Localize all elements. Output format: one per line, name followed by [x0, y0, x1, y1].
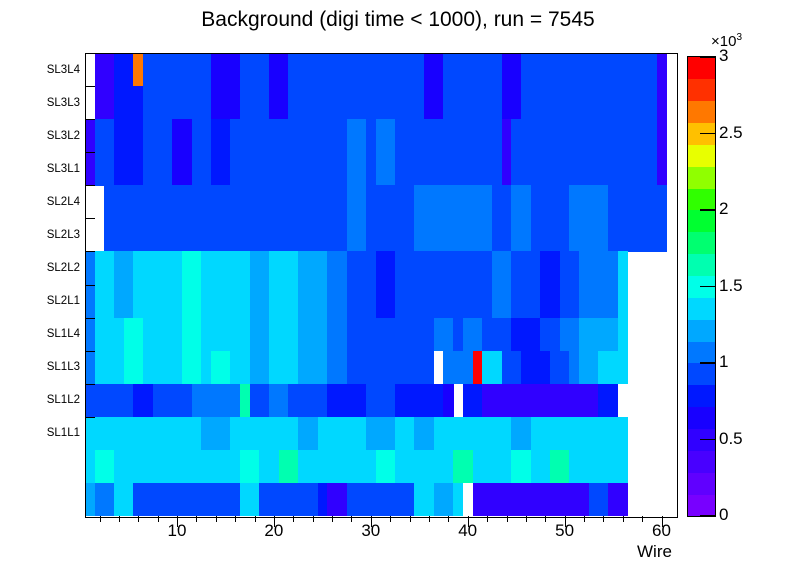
- heatmap-cell: [502, 351, 512, 385]
- heatmap-cell: [511, 285, 521, 319]
- heatmap-cell: [308, 251, 318, 285]
- heatmap-cell: [608, 86, 618, 120]
- heatmap-cell: [327, 318, 337, 352]
- heatmap-cell: [463, 318, 473, 352]
- heatmap-cell: [308, 119, 318, 153]
- heatmap-cell: [376, 86, 386, 120]
- heatmap-cell: [608, 251, 618, 285]
- colorbar-tick-label: 1: [719, 352, 728, 372]
- heatmap-cell: [511, 185, 521, 219]
- heatmap-cell: [318, 53, 328, 87]
- heatmap-cell: [463, 251, 473, 285]
- heatmap-cell: [347, 53, 357, 87]
- heatmap-cell: [618, 185, 628, 219]
- heatmap-cell: [201, 152, 211, 186]
- heatmap-cell: [531, 318, 541, 352]
- heatmap-cell: [560, 351, 570, 385]
- heatmap-cell: [657, 86, 667, 120]
- heatmap-cell: [550, 351, 560, 385]
- heatmap-cell: [618, 483, 628, 516]
- heatmap-cell: [337, 351, 347, 385]
- y-axis-label: SL2L3: [18, 229, 80, 241]
- heatmap-cell: [482, 318, 492, 352]
- heatmap-cell: [424, 351, 434, 385]
- heatmap-cell: [172, 417, 182, 451]
- heatmap-cell: [579, 351, 589, 385]
- heatmap-cell: [628, 152, 638, 186]
- heatmap-cell: [376, 185, 386, 219]
- heatmap-cell: [318, 185, 328, 219]
- heatmap-cell: [492, 384, 502, 418]
- heatmap-cell: [298, 417, 308, 451]
- heatmap-cell: [473, 417, 483, 451]
- heatmap-cell: [221, 251, 231, 285]
- heatmap-cell: [443, 450, 453, 484]
- y-axis-tick: [85, 285, 95, 286]
- heatmap-cell: [143, 218, 153, 252]
- x-axis-tick: [100, 516, 101, 522]
- heatmap-cell: [492, 285, 502, 319]
- heatmap-cell: [240, 251, 250, 285]
- heatmap-cell: [482, 251, 492, 285]
- heatmap-cell: [279, 86, 289, 120]
- heatmap-cell: [463, 53, 473, 87]
- heatmap-cell: [414, 351, 424, 385]
- heatmap-cell: [250, 119, 260, 153]
- heatmap-cell: [482, 152, 492, 186]
- colorbar-tick: [700, 286, 715, 288]
- x-axis-tick: [138, 516, 139, 522]
- heatmap-cell: [133, 318, 143, 352]
- heatmap-cell: [356, 483, 366, 516]
- heatmap-cell: [608, 53, 618, 87]
- x-axis-tick: [429, 516, 430, 522]
- heatmap-cell: [657, 53, 667, 87]
- heatmap-cell: [598, 351, 608, 385]
- heatmap-cell: [502, 285, 512, 319]
- heatmap-cell: [230, 285, 240, 319]
- heatmap-cell: [337, 384, 347, 418]
- heatmap-cell: [521, 285, 531, 319]
- heatmap-cell: [230, 483, 240, 516]
- heatmap-cell: [560, 152, 570, 186]
- heatmap-cell: [366, 251, 376, 285]
- heatmap-cell: [221, 285, 231, 319]
- heatmap-cell: [366, 119, 376, 153]
- heatmap-cell: [114, 53, 124, 87]
- heatmap-cell: [153, 185, 163, 219]
- heatmap-cell: [211, 86, 221, 120]
- heatmap-cell: [560, 218, 570, 252]
- heatmap-cell: [308, 351, 318, 385]
- x-axis-tick: [410, 516, 411, 522]
- heatmap-cell: [95, 450, 105, 484]
- heatmap-cell: [569, 417, 579, 451]
- heatmap-cell: [414, 185, 424, 219]
- heatmap-cells: [85, 53, 676, 516]
- heatmap-cell: [163, 483, 173, 516]
- heatmap-cell: [259, 384, 269, 418]
- colorbar-band: [688, 188, 715, 210]
- heatmap-cell: [376, 53, 386, 87]
- heatmap-cell: [540, 185, 550, 219]
- heatmap-cell: [502, 218, 512, 252]
- x-axis-tick: [603, 516, 604, 522]
- heatmap-cell: [318, 417, 328, 451]
- heatmap-cell: [453, 218, 463, 252]
- heatmap-cell: [376, 483, 386, 516]
- heatmap-cell: [540, 251, 550, 285]
- heatmap-cell: [511, 450, 521, 484]
- heatmap-cell: [569, 86, 579, 120]
- heatmap-cell: [288, 384, 298, 418]
- heatmap-cell: [618, 251, 628, 285]
- heatmap-cell: [182, 318, 192, 352]
- heatmap-cell: [598, 251, 608, 285]
- y-axis-labels: SL3L4SL3L3SL3L2SL3L1SL2L4SL2L3SL2L2SL2L1…: [12, 53, 80, 516]
- heatmap-cell: [647, 53, 657, 87]
- heatmap-cell: [85, 483, 95, 516]
- heatmap-cell: [376, 119, 386, 153]
- heatmap-cell: [628, 119, 638, 153]
- heatmap-cell: [443, 285, 453, 319]
- heatmap-cell: [95, 351, 105, 385]
- heatmap-cell: [104, 351, 114, 385]
- heatmap-cell: [221, 318, 231, 352]
- heatmap-cell: [259, 285, 269, 319]
- heatmap-cell: [153, 417, 163, 451]
- heatmap-cell: [153, 483, 163, 516]
- heatmap-cell: [114, 285, 124, 319]
- heatmap-cell: [560, 318, 570, 352]
- heatmap-cell: [531, 483, 541, 516]
- heatmap-cell: [531, 185, 541, 219]
- heatmap-cell: [618, 86, 628, 120]
- heatmap-cell: [104, 483, 114, 516]
- heatmap-cell: [434, 285, 444, 319]
- heatmap-cell: [405, 251, 415, 285]
- heatmap-cell: [153, 384, 163, 418]
- heatmap-cell: [376, 251, 386, 285]
- heatmap-cell: [356, 86, 366, 120]
- y-axis-tick: [85, 417, 95, 418]
- heatmap-cell: [337, 119, 347, 153]
- heatmap-cell: [560, 417, 570, 451]
- heatmap-cell: [318, 119, 328, 153]
- heatmap-cell: [473, 152, 483, 186]
- heatmap-cell: [288, 483, 298, 516]
- heatmap-cell: [473, 185, 483, 219]
- heatmap-cell: [201, 218, 211, 252]
- heatmap-cell: [114, 86, 124, 120]
- heatmap-cell: [259, 119, 269, 153]
- heatmap-cell: [221, 53, 231, 87]
- heatmap-cell: [589, 450, 599, 484]
- heatmap-cell: [143, 417, 153, 451]
- heatmap-cell: [327, 251, 337, 285]
- heatmap-cell: [414, 218, 424, 252]
- heatmap-cell: [414, 450, 424, 484]
- heatmap-cell: [279, 318, 289, 352]
- heatmap-cell: [482, 483, 492, 516]
- heatmap-cell: [502, 483, 512, 516]
- y-axis-label: SL2L2: [18, 262, 80, 274]
- heatmap-cell: [492, 483, 502, 516]
- heatmap-cell: [453, 285, 463, 319]
- heatmap-cell: [347, 218, 357, 252]
- heatmap-cell: [473, 53, 483, 87]
- y-axis-tick: [85, 119, 95, 120]
- heatmap-cell: [230, 185, 240, 219]
- heatmap-cell: [453, 251, 463, 285]
- x-axis-tick: [545, 516, 546, 522]
- colorbar-tick: [700, 362, 715, 364]
- heatmap-cell: [443, 251, 453, 285]
- heatmap-cell: [550, 218, 560, 252]
- heatmap-cell: [192, 86, 202, 120]
- heatmap-cell: [395, 218, 405, 252]
- heatmap-cell: [492, 318, 502, 352]
- heatmap-cell: [618, 152, 628, 186]
- heatmap-cell: [240, 218, 250, 252]
- y-axis-tick: [85, 318, 95, 319]
- heatmap-cell: [269, 450, 279, 484]
- heatmap-cell: [221, 86, 231, 120]
- heatmap-cell: [502, 152, 512, 186]
- heatmap-cell: [288, 218, 298, 252]
- heatmap-cell: [531, 351, 541, 385]
- heatmap-cell: [443, 384, 453, 418]
- heatmap-cell: [298, 351, 308, 385]
- heatmap-cell: [385, 251, 395, 285]
- heatmap-cell: [473, 285, 483, 319]
- heatmap-cell: [443, 417, 453, 451]
- heatmap-cell: [201, 53, 211, 87]
- colorbar-tick: [700, 439, 715, 441]
- heatmap-cell: [608, 119, 618, 153]
- heatmap-cell: [318, 351, 328, 385]
- heatmap-cell: [531, 53, 541, 87]
- y-axis-label: SL1L3: [18, 361, 80, 373]
- heatmap-cell: [337, 185, 347, 219]
- heatmap-cell: [598, 450, 608, 484]
- heatmap-cell: [385, 119, 395, 153]
- heatmap-cell: [405, 152, 415, 186]
- heatmap-cell: [211, 318, 221, 352]
- heatmap-cell: [356, 285, 366, 319]
- heatmap-cell: [560, 384, 570, 418]
- heatmap-cell: [240, 351, 250, 385]
- heatmap-cell: [124, 119, 134, 153]
- heatmap-cell: [482, 417, 492, 451]
- heatmap-cell: [492, 185, 502, 219]
- heatmap-cell: [579, 285, 589, 319]
- heatmap-cell: [308, 483, 318, 516]
- heatmap-cell: [133, 53, 143, 87]
- heatmap-cell: [579, 318, 589, 352]
- heatmap-cell: [163, 185, 173, 219]
- heatmap-cell: [453, 119, 463, 153]
- heatmap-cell: [608, 483, 618, 516]
- heatmap-cell: [492, 251, 502, 285]
- heatmap-cell: [618, 285, 628, 319]
- heatmap-cell: [502, 318, 512, 352]
- heatmap-cell: [356, 384, 366, 418]
- heatmap-cell: [347, 450, 357, 484]
- heatmap-cell: [647, 119, 657, 153]
- heatmap-cell: [482, 384, 492, 418]
- heatmap-cell: [172, 218, 182, 252]
- heatmap-cell: [327, 86, 337, 120]
- heatmap-cell: [443, 185, 453, 219]
- colorbar-band: [688, 407, 715, 429]
- heatmap-cell: [424, 285, 434, 319]
- heatmap-cell: [298, 86, 308, 120]
- heatmap-cell: [618, 53, 628, 87]
- heatmap-cell: [424, 53, 434, 87]
- heatmap-cell: [85, 119, 95, 153]
- heatmap-cell: [211, 351, 221, 385]
- heatmap-cell: [424, 86, 434, 120]
- colorbar-band: [688, 297, 715, 319]
- heatmap-cell: [569, 185, 579, 219]
- heatmap-cell: [405, 53, 415, 87]
- heatmap-cell: [453, 152, 463, 186]
- heatmap-cell: [376, 218, 386, 252]
- heatmap-cell: [540, 450, 550, 484]
- heatmap-cell: [385, 86, 395, 120]
- y-axis-label: SL3L1: [18, 163, 80, 175]
- heatmap-cell: [250, 384, 260, 418]
- heatmap-cell: [230, 152, 240, 186]
- y-axis-label: SL2L4: [18, 196, 80, 208]
- heatmap-cell: [221, 218, 231, 252]
- heatmap-cell: [163, 318, 173, 352]
- heatmap-cell: [230, 119, 240, 153]
- heatmap-cell: [211, 285, 221, 319]
- heatmap-cell: [192, 318, 202, 352]
- heatmap-cell: [366, 285, 376, 319]
- heatmap-cell: [385, 450, 395, 484]
- x-axis-tick: [584, 516, 585, 522]
- x-axis-tick: [642, 516, 643, 522]
- heatmap-cell: [618, 417, 628, 451]
- heatmap-cell: [598, 53, 608, 87]
- heatmap-cell: [569, 351, 579, 385]
- heatmap-cell: [347, 251, 357, 285]
- heatmap-cell: [608, 318, 618, 352]
- heatmap-cell: [453, 483, 463, 516]
- heatmap-cell: [482, 86, 492, 120]
- x-axis-tick-label: 30: [361, 521, 380, 541]
- colorbar-tick-label: 0: [719, 505, 728, 525]
- heatmap-cell: [259, 351, 269, 385]
- heatmap-cell: [434, 318, 444, 352]
- y-axis-tick: [85, 152, 95, 153]
- heatmap-cell: [463, 218, 473, 252]
- heatmap-cell: [192, 351, 202, 385]
- heatmap-cell: [356, 218, 366, 252]
- heatmap-cell: [337, 152, 347, 186]
- heatmap-cell: [550, 318, 560, 352]
- heatmap-cell: [424, 251, 434, 285]
- x-axis-tick: [332, 516, 333, 522]
- heatmap-cell: [569, 152, 579, 186]
- heatmap-plot-area[interactable]: [85, 53, 676, 516]
- heatmap-cell: [240, 450, 250, 484]
- heatmap-cell: [133, 450, 143, 484]
- heatmap-cell: [560, 483, 570, 516]
- heatmap-cell: [124, 53, 134, 87]
- heatmap-cell: [240, 318, 250, 352]
- heatmap-cell: [327, 417, 337, 451]
- heatmap-cell: [579, 185, 589, 219]
- heatmap-cell: [124, 86, 134, 120]
- heatmap-cell: [95, 318, 105, 352]
- heatmap-cell: [356, 152, 366, 186]
- heatmap-cell: [172, 119, 182, 153]
- heatmap-cell: [414, 384, 424, 418]
- heatmap-cell: [221, 152, 231, 186]
- heatmap-cell: [133, 351, 143, 385]
- heatmap-cell: [298, 152, 308, 186]
- heatmap-cell: [405, 384, 415, 418]
- heatmap-cell: [308, 318, 318, 352]
- heatmap-cell: [259, 86, 269, 120]
- heatmap-cell: [482, 119, 492, 153]
- heatmap-cell: [201, 318, 211, 352]
- heatmap-cell: [259, 152, 269, 186]
- colorbar-band: [688, 385, 715, 407]
- heatmap-cell: [133, 86, 143, 120]
- colorbar-band: [688, 57, 715, 79]
- heatmap-cell: [211, 251, 221, 285]
- heatmap-cell: [443, 351, 453, 385]
- heatmap-cell: [250, 351, 260, 385]
- heatmap-cell: [579, 450, 589, 484]
- x-axis-tick: [196, 516, 197, 522]
- heatmap-cell: [366, 218, 376, 252]
- heatmap-cell: [366, 450, 376, 484]
- colorbar-band: [688, 450, 715, 472]
- colorbar-band: [688, 144, 715, 166]
- heatmap-cell: [143, 384, 153, 418]
- heatmap-cell: [560, 450, 570, 484]
- heatmap-cell: [298, 450, 308, 484]
- heatmap-cell: [250, 450, 260, 484]
- heatmap-cell: [560, 119, 570, 153]
- heatmap-cell: [531, 86, 541, 120]
- heatmap-cell: [482, 185, 492, 219]
- heatmap-cell: [463, 351, 473, 385]
- heatmap-cell: [221, 417, 231, 451]
- heatmap-cell: [221, 483, 231, 516]
- heatmap-cell: [589, 483, 599, 516]
- heatmap-cell: [153, 119, 163, 153]
- heatmap-cell: [511, 218, 521, 252]
- heatmap-cell: [182, 285, 192, 319]
- heatmap-cell: [356, 53, 366, 87]
- heatmap-cell: [366, 483, 376, 516]
- heatmap-cell: [414, 318, 424, 352]
- heatmap-cell: [376, 351, 386, 385]
- heatmap-cell: [395, 185, 405, 219]
- heatmap-cell: [463, 119, 473, 153]
- heatmap-cell: [182, 119, 192, 153]
- heatmap-cell: [395, 152, 405, 186]
- heatmap-cell: [385, 351, 395, 385]
- heatmap-cell: [143, 285, 153, 319]
